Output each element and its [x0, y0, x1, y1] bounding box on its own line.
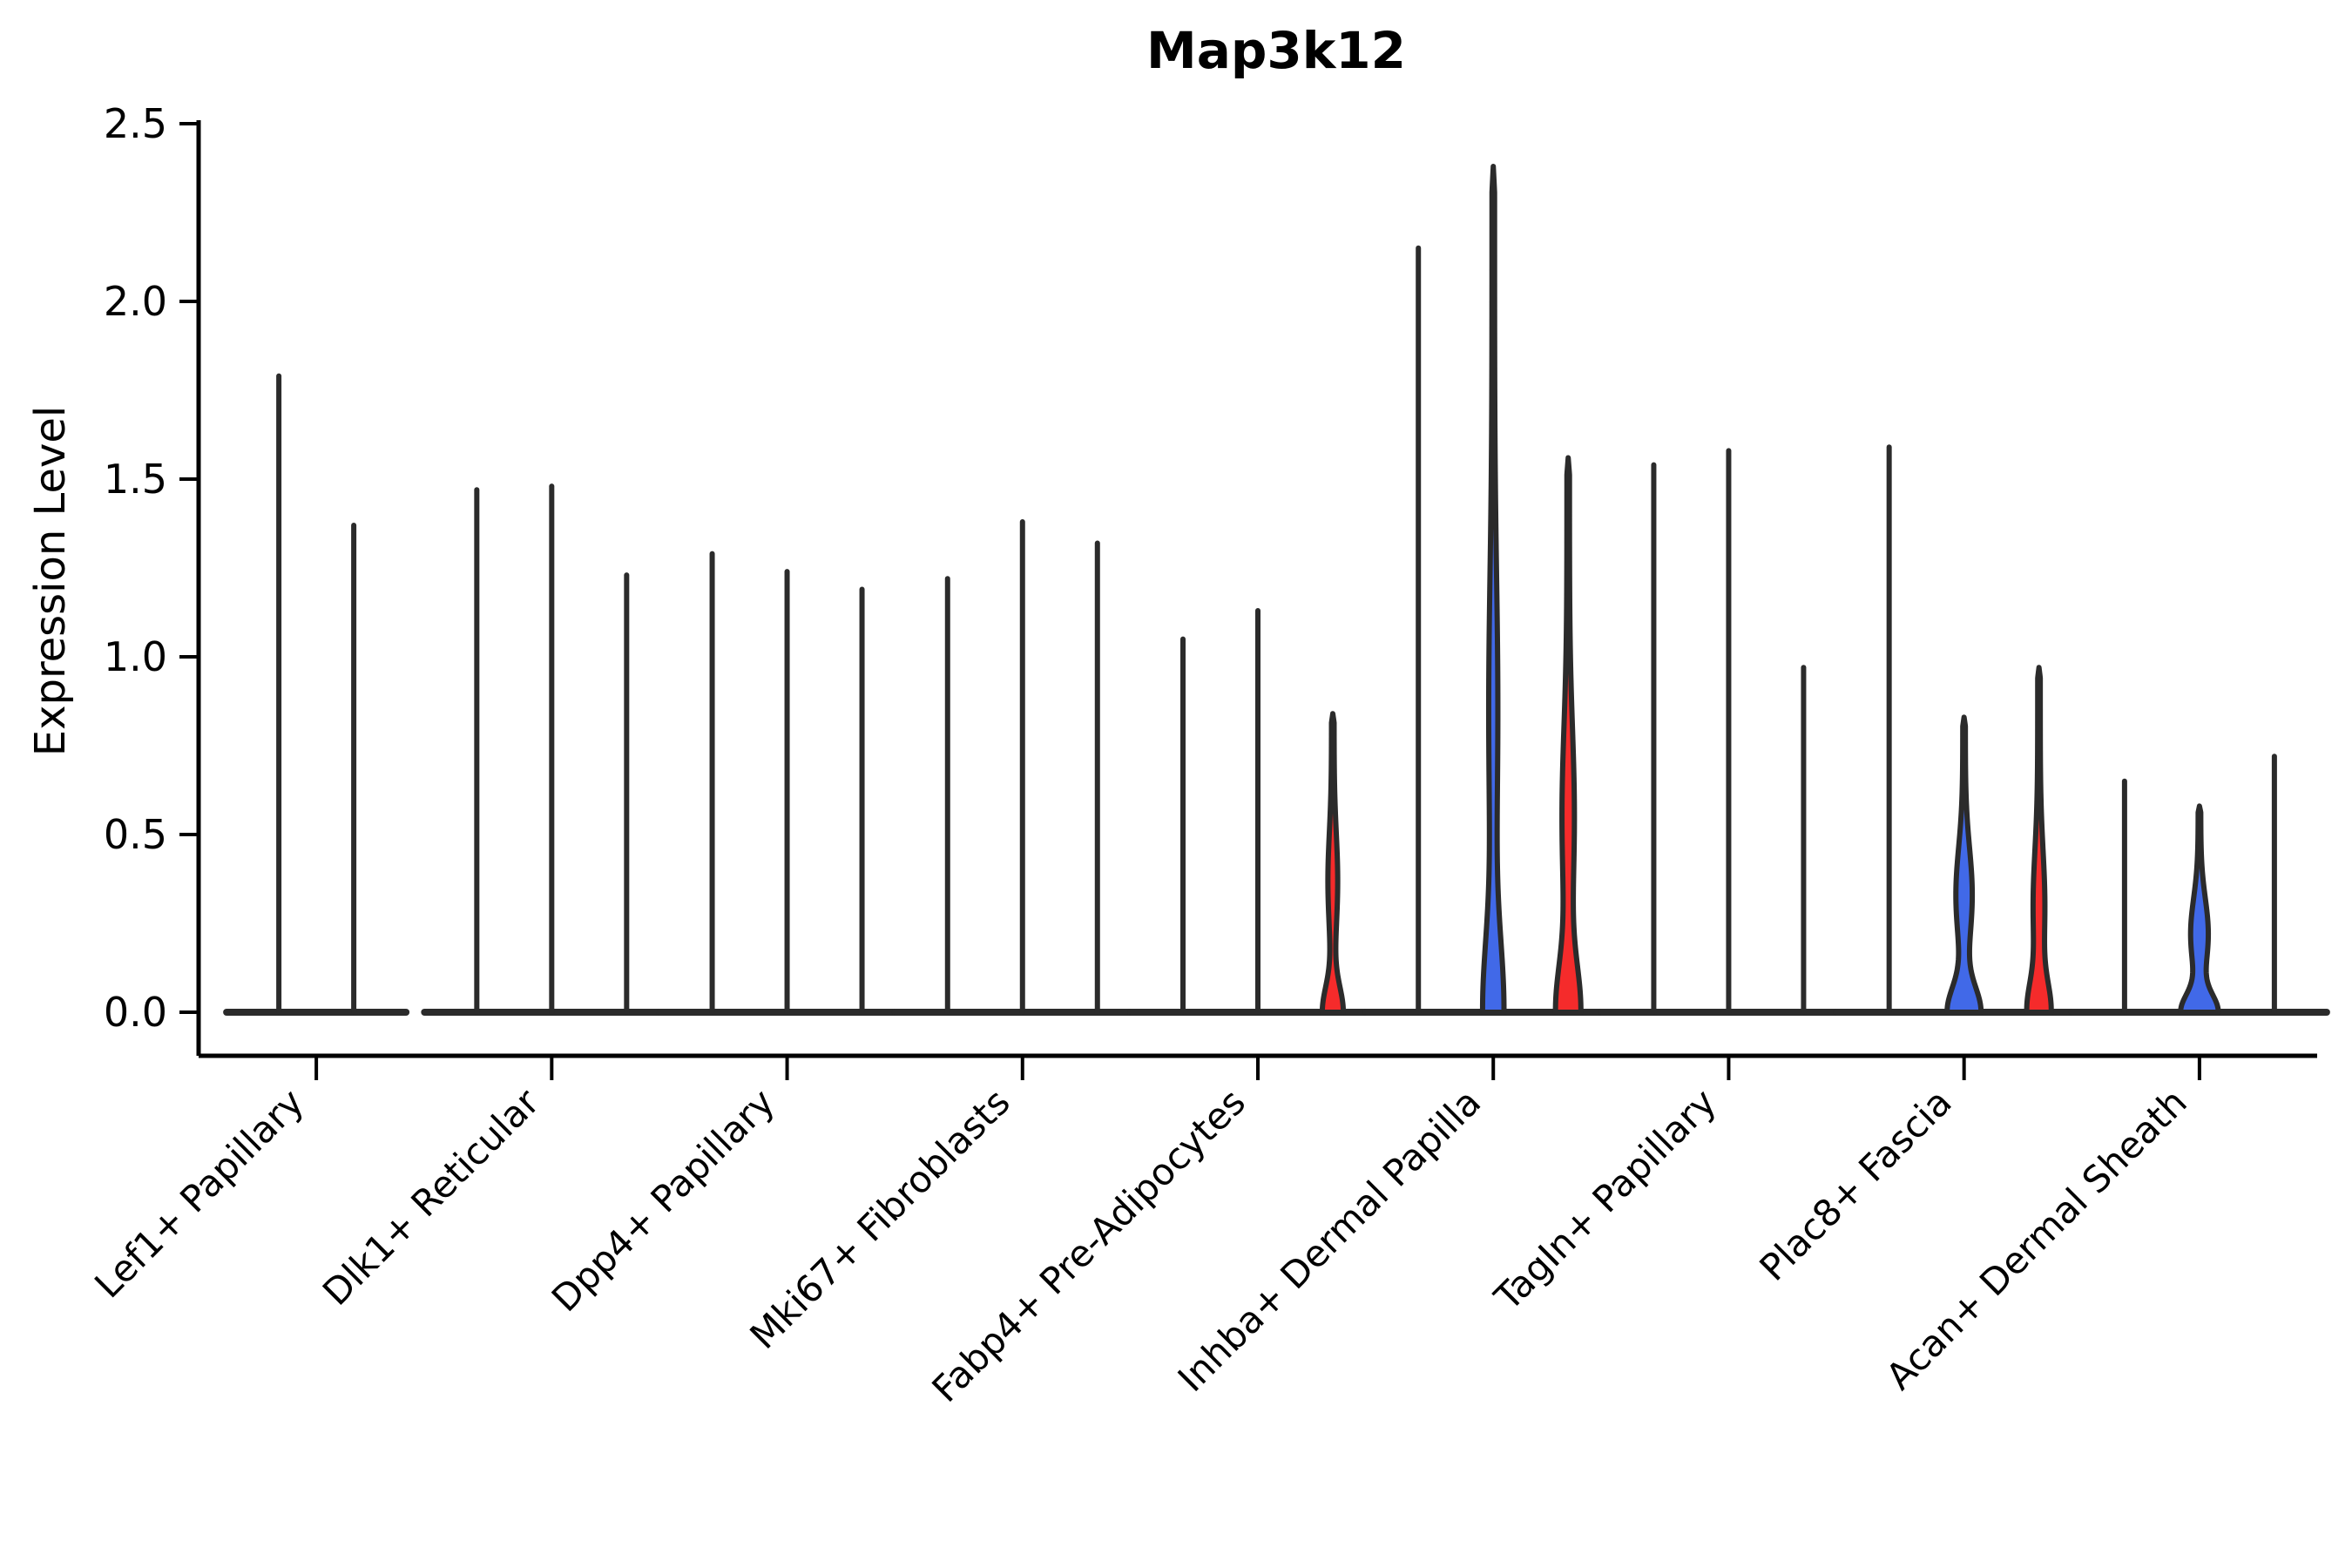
y-tick-label: 2.0 [104, 278, 167, 325]
violin-group-5[interactable] [1131, 611, 1385, 1012]
violin-group-8[interactable] [1837, 447, 2092, 1012]
y-tick-label: 0.5 [104, 811, 167, 858]
violin-body[interactable] [2180, 806, 2218, 1012]
y-tick-label: 1.0 [104, 633, 167, 680]
x-tick-label[interactable]: Plac8+ Fascia [1751, 1080, 1959, 1288]
violin-body[interactable] [1483, 166, 1504, 1012]
chart-canvas: Map3k12 Expression Level 0.00.51.01.52.0… [0, 0, 2352, 1568]
x-tick-label[interactable]: Lef1+ Papillary [86, 1080, 312, 1306]
x-tick-label[interactable]: Dlk1+ Reticular [314, 1080, 548, 1314]
y-tick-label: 2.5 [104, 100, 167, 147]
violin-group-7[interactable] [1601, 450, 1855, 1012]
violin-group-2[interactable] [424, 486, 679, 1012]
violin-group-4[interactable] [896, 522, 1150, 1012]
violin-group-6[interactable] [1366, 166, 1620, 1012]
x-axis-ticks: Lef1+ PapillaryDlk1+ ReticularDpp4+ Papi… [86, 1056, 2200, 1410]
violin-body[interactable] [1322, 713, 1343, 1012]
violin-group-9[interactable] [2072, 756, 2327, 1012]
violin-body[interactable] [2027, 667, 2051, 1012]
x-tick-label[interactable]: Dpp4+ Papillary [544, 1080, 783, 1320]
violin-body[interactable] [1556, 458, 1581, 1012]
x-tick-label[interactable]: TagIn+ Papillary [1486, 1080, 1725, 1319]
page-title: Map3k12 [1146, 21, 1406, 80]
y-tick-label: 1.5 [104, 456, 167, 503]
violin-group-1[interactable] [226, 376, 406, 1012]
violin-plot-figure: Map3k12 Expression Level 0.00.51.01.52.0… [0, 0, 2352, 1568]
violin-body[interactable] [1947, 717, 1981, 1012]
violin-series-group [226, 166, 2327, 1012]
violin-group-3[interactable] [660, 554, 915, 1012]
y-axis-label: Expression Level [26, 406, 75, 757]
x-tick-label[interactable]: Mki67+ Fibroblasts [741, 1080, 1017, 1356]
y-tick-label: 0.0 [104, 989, 167, 1036]
y-axis-ticks: 0.00.51.01.52.02.5 [104, 100, 199, 1036]
